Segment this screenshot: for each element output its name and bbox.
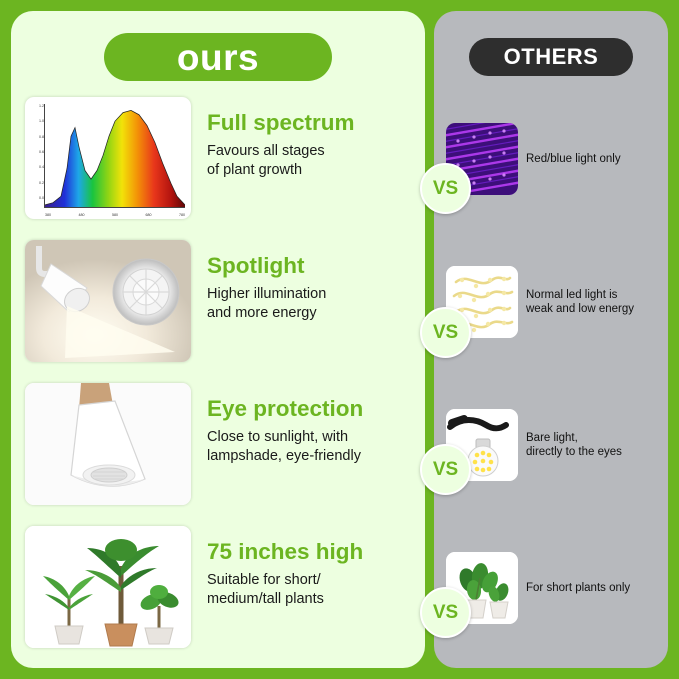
ours-feature-desc: Close to sunlight, with lampshade, eye-f… (207, 428, 363, 466)
ours-feature-desc: Higher illumination and more energy (207, 285, 326, 323)
ours-feature-row: 75 inches high Suitable for short/ mediu… (25, 526, 411, 648)
others-badge: OTHERS (469, 38, 633, 76)
white-led-panel-image (446, 266, 518, 338)
short-plants-image (446, 552, 518, 624)
ours-badge: ours (104, 33, 332, 81)
ours-feature-title: Full spectrum (207, 111, 355, 135)
ours-feature-list: 1.2 1.0 0.8 0.6 0.4 0.2 0.0 (25, 97, 411, 648)
others-feature-desc: For short plants only (526, 581, 630, 595)
tall-plants-image (25, 526, 191, 648)
ours-feature-desc: Favours all stages of plant growth (207, 142, 355, 180)
ours-feature-title: Spotlight (207, 254, 326, 278)
others-feature-list: Red/blue light only (444, 98, 658, 649)
ours-feature-row: 1.2 1.0 0.8 0.6 0.4 0.2 0.0 (25, 97, 411, 219)
others-feature-row: Normal led light is weak and low energy (444, 241, 658, 363)
ours-feature-text: Full spectrum Favours all stages of plan… (207, 97, 355, 180)
ours-feature-text: Eye protection Close to sunlight, with l… (207, 383, 363, 466)
chart-y-axis-labels: 1.2 1.0 0.8 0.6 0.4 0.2 0.0 (28, 104, 44, 200)
others-feature-desc: Red/blue light only (526, 152, 621, 166)
ours-feature-desc: Suitable for short/ medium/tall plants (207, 571, 363, 609)
comparison-infographic: ours 1.2 1.0 0.8 0.6 0.4 0.2 0.0 (0, 0, 679, 679)
x-tick: 680 (146, 213, 152, 217)
ours-feature-title: 75 inches high (207, 540, 363, 564)
others-feature-row: Bare light, directly to the eyes (444, 384, 658, 506)
white-led-illustration (446, 266, 518, 338)
chart-x-axis-labels: 380 480 580 680 780 (45, 213, 185, 217)
x-tick: 380 (45, 213, 51, 217)
ours-feature-text: Spotlight Higher illumination and more e… (207, 240, 326, 323)
spotlight-illustration (25, 240, 191, 362)
x-tick: 580 (112, 213, 118, 217)
bare-bulb-illustration (446, 409, 518, 481)
ours-panel: ours 1.2 1.0 0.8 0.6 0.4 0.2 0.0 (11, 11, 425, 668)
others-feature-desc: Normal led light is weak and low energy (526, 288, 634, 317)
others-feature-row: For short plants only (444, 527, 658, 649)
spectrum-chart: 1.2 1.0 0.8 0.6 0.4 0.2 0.0 (25, 97, 191, 219)
full-spectrum-chart-image: 1.2 1.0 0.8 0.6 0.4 0.2 0.0 (25, 97, 191, 219)
short-plants-illustration (446, 552, 518, 624)
bare-bulb-clamp-image (446, 409, 518, 481)
x-tick: 480 (79, 213, 85, 217)
tall-plants-illustration (25, 526, 191, 648)
spotlight-lamp-image (25, 240, 191, 362)
purple-led-illustration (446, 123, 518, 195)
purple-led-panel-image (446, 123, 518, 195)
others-panel: OTHERS (434, 11, 668, 668)
others-feature-row: Red/blue light only (444, 98, 658, 220)
ours-feature-title: Eye protection (207, 397, 363, 421)
chart-plot-area (44, 104, 185, 208)
others-badge-label: OTHERS (504, 46, 599, 68)
lampshade-illustration (25, 383, 191, 505)
others-feature-desc: Bare light, directly to the eyes (526, 431, 622, 460)
ours-feature-row: Eye protection Close to sunlight, with l… (25, 383, 411, 505)
lampshade-image (25, 383, 191, 505)
ours-badge-label: ours (177, 39, 259, 76)
ours-feature-text: 75 inches high Suitable for short/ mediu… (207, 526, 363, 609)
x-tick: 780 (179, 213, 185, 217)
spectrum-curve-svg (45, 104, 185, 207)
ours-feature-row: Spotlight Higher illumination and more e… (25, 240, 411, 362)
